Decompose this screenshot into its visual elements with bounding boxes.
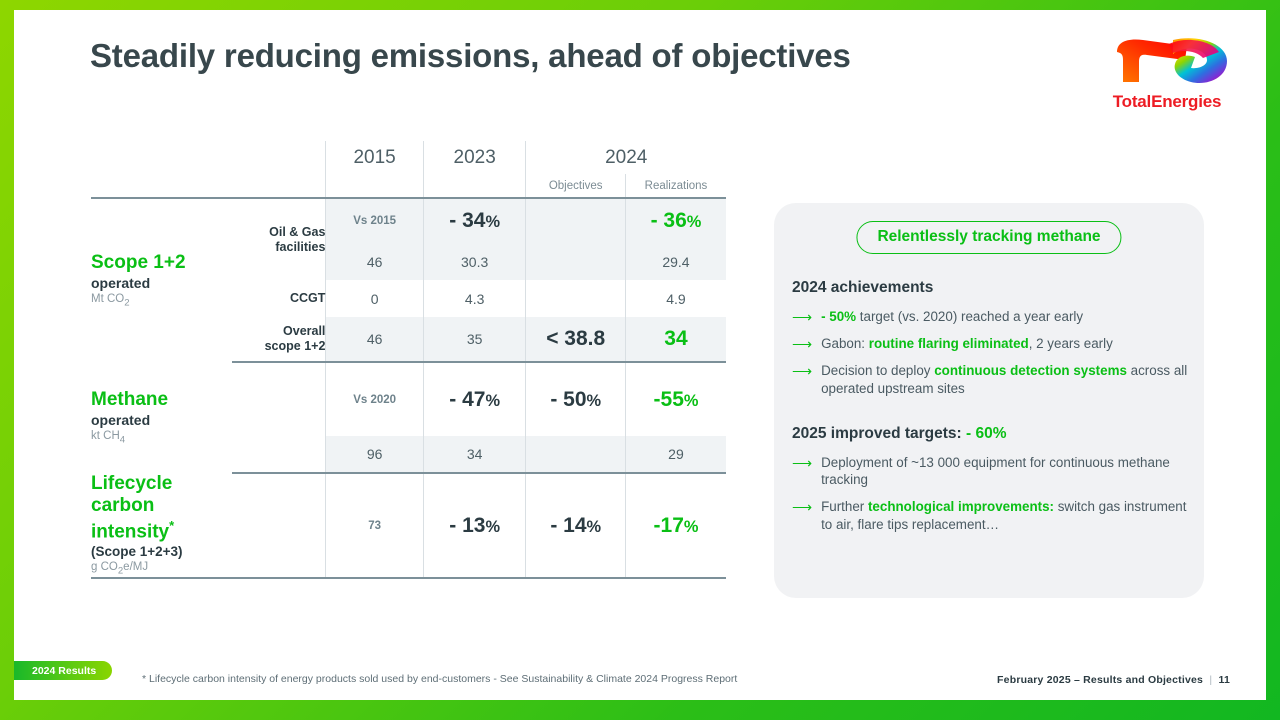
cell-realizations: 29 — [625, 436, 726, 473]
list-item: ⟶ Further technological improvements: sw… — [792, 498, 1188, 533]
footer-badge: 2024 Results — [14, 661, 112, 680]
table-row: Lifecycle carbonintensity* (Scope 1+2+3)… — [91, 473, 726, 578]
totalenergies-mark-icon — [1103, 28, 1231, 90]
panel-heading-2024: 2024 achievements — [792, 279, 1188, 297]
arrow-icon: ⟶ — [792, 362, 812, 397]
table-header-subcols: Objectives Realizations — [91, 174, 726, 198]
unit-label: g CO2e/MJ — [91, 561, 232, 577]
emissions-table: 2015 2023 2024 Objectives Realizations S… — [91, 141, 726, 579]
list-item: ⟶ Deployment of ~13 000 equipment for co… — [792, 454, 1188, 489]
list-item: ⟶ - 50% target (vs. 2020) reached a year… — [792, 308, 1188, 326]
cell-realizations: - 36% — [625, 198, 726, 243]
cell-2023: 35 — [423, 317, 526, 362]
cell-objectives — [526, 243, 626, 280]
cell-2015: 46 — [326, 243, 423, 280]
panel-heading-2025: 2025 improved targets: - 60% — [792, 425, 1188, 443]
cell-objectives — [526, 280, 626, 317]
cell-2015: 46 — [326, 317, 423, 362]
arrow-icon: ⟶ — [792, 335, 812, 353]
totalenergies-logo: TotalEnergies — [1092, 28, 1242, 132]
header-realizations: Realizations — [625, 174, 726, 198]
slide-frame: Steadily reducing emissions, ahead of ob… — [0, 0, 1280, 720]
footnote: * Lifecycle carbon intensity of energy p… — [142, 673, 737, 685]
cell-realizations: -55% — [625, 362, 726, 436]
cell-objectives — [526, 198, 626, 243]
panel-body: 2024 achievements ⟶ - 50% target (vs. 20… — [792, 279, 1188, 543]
header-2015: 2015 — [326, 141, 423, 174]
cell-objectives — [526, 436, 626, 473]
section-label-methane: Methane operated kt CH4 — [91, 362, 232, 473]
slide-canvas: Steadily reducing emissions, ahead of ob… — [14, 10, 1266, 700]
cell-2015: 0 — [326, 280, 423, 317]
section-label-lifecycle: Lifecycle carbonintensity* (Scope 1+2+3)… — [91, 473, 232, 578]
table-row: Scope 1+2 operated Mt CO2 Oil & Gasfacil… — [91, 198, 726, 243]
cell-2023: 4.3 — [423, 280, 526, 317]
cell-2023: - 13% — [423, 473, 526, 578]
header-2023: 2023 — [423, 141, 526, 174]
cell-objectives: < 38.8 — [526, 317, 626, 362]
subcat-overall: Overallscope 1+2 — [232, 317, 326, 362]
cell-realizations: -17% — [625, 473, 726, 578]
cell-2023: 34 — [423, 436, 526, 473]
panel-pill-badge: Relentlessly tracking methane — [856, 221, 1121, 254]
footer-right: February 2025 – Results and Objectives |… — [997, 674, 1230, 686]
cell-realizations: 34 — [625, 317, 726, 362]
list-item: ⟶ Gabon: routine flaring eliminated, 2 y… — [792, 335, 1188, 353]
table-row: Methane operated kt CH4 Vs 2020 - 47% - … — [91, 362, 726, 436]
cell-2015: 73 — [326, 473, 423, 578]
arrow-icon: ⟶ — [792, 498, 812, 533]
cell-realizations: 29.4 — [625, 243, 726, 280]
list-item: ⟶ Decision to deploy continuous detectio… — [792, 362, 1188, 397]
arrow-icon: ⟶ — [792, 454, 812, 489]
cell-objectives: - 14% — [526, 473, 626, 578]
cell-2015: Vs 2020 — [326, 362, 423, 436]
page-number: 11 — [1219, 674, 1231, 686]
logo-wordmark: TotalEnergies — [1092, 92, 1242, 112]
cell-objectives: - 50% — [526, 362, 626, 436]
arrow-icon: ⟶ — [792, 308, 812, 326]
cell-2023: - 34% — [423, 198, 526, 243]
cell-2015: Vs 2015 — [326, 198, 423, 243]
table-header-years: 2015 2023 2024 — [91, 141, 726, 174]
subcat-oil-gas: Oil & Gasfacilities — [232, 198, 326, 280]
page-title: Steadily reducing emissions, ahead of ob… — [90, 37, 851, 75]
cell-realizations: 4.9 — [625, 280, 726, 317]
header-2024: 2024 — [526, 141, 726, 174]
unit-label: kt CH4 — [91, 430, 232, 446]
cell-2015: 96 — [326, 436, 423, 473]
section-label-scope: Scope 1+2 operated Mt CO2 — [91, 198, 232, 362]
unit-label: Mt CO2 — [91, 293, 232, 309]
header-objectives: Objectives — [526, 174, 626, 198]
cell-2023: - 47% — [423, 362, 526, 436]
methane-highlight-panel: Relentlessly tracking methane 2024 achie… — [774, 203, 1204, 598]
subcat-ccgt: CCGT — [232, 280, 326, 317]
cell-2023: 30.3 — [423, 243, 526, 280]
